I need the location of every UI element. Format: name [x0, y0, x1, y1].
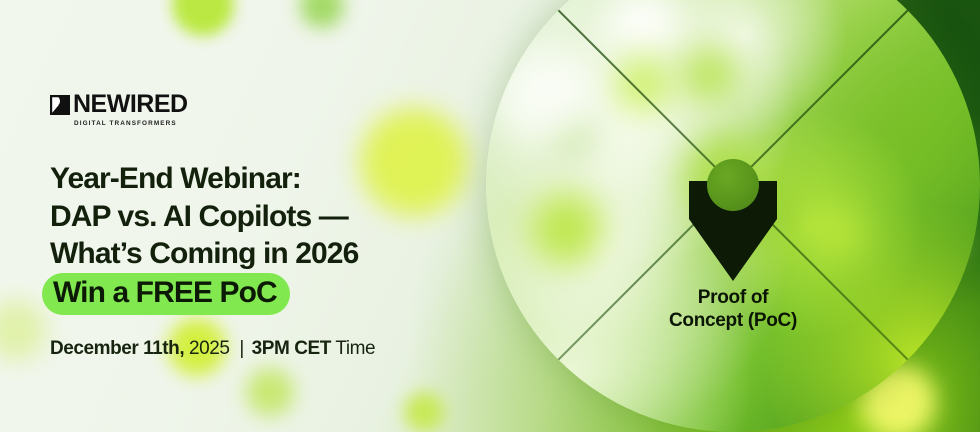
- event-datetime: December 11th, 2025 | 3PM CET Time: [50, 338, 480, 360]
- logo-row: NEWIRED: [50, 92, 480, 117]
- page-title: Year-End Webinar: DAP vs. AI Copilots — …: [50, 160, 480, 315]
- webinar-promo-banner: Proof of Concept (PoC) NEWIRED DIGITAL T…: [0, 0, 980, 432]
- content-block: NEWIRED DIGITAL TRANSFORMERS Year-End We…: [50, 92, 480, 360]
- logo-wordmark: NEWIRED: [73, 92, 188, 117]
- offer-highlight-badge: Win a FREE PoC: [42, 273, 290, 315]
- wheel-blob-9: [496, 48, 592, 144]
- logo-tagline: DIGITAL TRANSFORMERS: [74, 120, 480, 127]
- wheel-disc[interactable]: Proof of Concept (PoC): [486, 0, 980, 432]
- wheel-prize-label: Proof of Concept (PoC): [486, 286, 980, 332]
- wheel-label-line-2: Concept (PoC): [669, 310, 797, 331]
- newired-square-mark-icon: [50, 95, 70, 115]
- wheel-hub-icon: [707, 159, 759, 211]
- bokeh-dot-lower-left: [246, 368, 294, 416]
- wheel-blob-3: [682, 48, 736, 102]
- datetime-separator: |: [239, 338, 244, 359]
- bokeh-dot-bottom-mid: [404, 392, 444, 432]
- wheel-blob-2: [614, 56, 672, 114]
- headline-line-2: DAP vs. AI Copilots —: [50, 198, 480, 236]
- wheel-blob-5: [530, 192, 604, 266]
- wheel-blob-8: [816, 210, 864, 258]
- event-year: 2025: [189, 338, 229, 359]
- brand-logo[interactable]: NEWIRED DIGITAL TRANSFORMERS: [50, 92, 480, 127]
- wheel-blob-1: [606, 0, 680, 60]
- wheel-label-line-1: Proof of: [698, 287, 768, 308]
- event-time-suffix: Time: [335, 338, 375, 359]
- prize-wheel[interactable]: Proof of Concept (PoC): [486, 0, 980, 432]
- event-date: December 11th,: [50, 338, 184, 359]
- headline-line-3: What’s Coming in 2026: [50, 235, 480, 273]
- event-time: 3PM CET: [252, 338, 331, 359]
- headline-line-1: Year-End Webinar:: [50, 160, 480, 198]
